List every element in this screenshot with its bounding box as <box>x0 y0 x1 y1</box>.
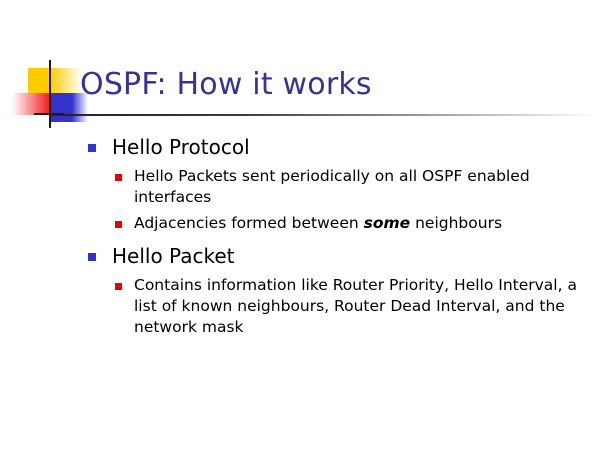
slide: OSPF: How it works Hello Protocol Hello … <box>0 0 600 450</box>
bullet-level1: Hello Protocol <box>0 134 600 161</box>
square-bullet-icon <box>88 144 96 152</box>
slide-title: OSPF: How it works <box>80 68 372 102</box>
logo-red-gradient-block <box>12 93 50 115</box>
decorative-corner-mark-icon <box>12 58 88 130</box>
spacer <box>0 234 600 243</box>
square-bullet-icon <box>115 283 122 290</box>
slide-body: Hello Protocol Hello Packets sent period… <box>0 134 600 338</box>
bullet-level2-text: Contains information like Router Priorit… <box>134 276 577 336</box>
bullet-level2: Hello Packets sent periodically on all O… <box>0 166 600 208</box>
bullet-level2-text: Adjacencies formed between <box>134 214 364 232</box>
square-bullet-icon <box>115 221 122 228</box>
bullet-emphasis: some <box>364 214 411 232</box>
logo-blue-square <box>50 93 72 122</box>
logo-vertical-rule <box>49 60 51 128</box>
bullet-level1-label: Hello Packet <box>112 244 234 268</box>
bullet-level1: Hello Packet <box>0 243 600 270</box>
bullet-level2-text-tail: neighbours <box>410 214 502 232</box>
bullet-level1-label: Hello Protocol <box>112 135 250 159</box>
square-bullet-icon <box>115 174 122 181</box>
title-underline-rule <box>50 114 598 116</box>
bullet-level2: Adjacencies formed between some neighbou… <box>0 213 600 234</box>
logo-yellow-gradient <box>50 68 82 93</box>
logo-yellow-square <box>28 68 50 93</box>
bullet-level2-text: Hello Packets sent periodically on all O… <box>134 167 530 206</box>
bullet-level2: Contains information like Router Priorit… <box>0 275 600 338</box>
square-bullet-icon <box>88 253 96 261</box>
